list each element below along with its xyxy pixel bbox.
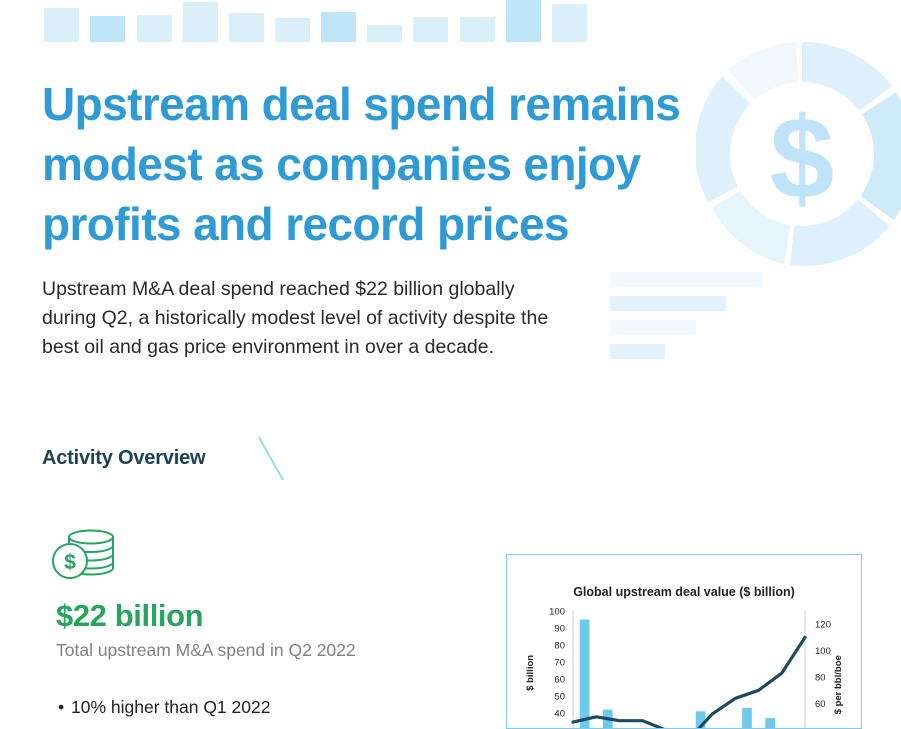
list-item-label: 10% higher than Q1 2022	[71, 697, 270, 717]
decorative-bar	[183, 2, 218, 42]
y-axis-tick: 40	[554, 709, 565, 720]
page-headline: Upstream deal spend remains modest as co…	[42, 74, 692, 254]
chart-panel: Global upstream deal value ($ billion) 1…	[506, 554, 862, 729]
placeholder-line	[610, 320, 696, 335]
decorative-bar	[413, 17, 448, 42]
list-item: •10% higher than Q1 2022	[58, 694, 270, 720]
decorative-bar	[90, 16, 125, 42]
decorative-bar	[275, 18, 310, 42]
band-diagonal-rule	[259, 437, 283, 480]
donut-chart-watermark: $	[696, 36, 901, 268]
y-axis-tick: 50	[554, 692, 565, 703]
chart-bar	[742, 708, 752, 729]
y2-axis-tick: 60	[815, 699, 826, 710]
y2-axis-title: $ per bbl/boe	[833, 655, 844, 714]
y-axis-tick: 80	[554, 641, 565, 652]
y-axis-title: $ billion	[525, 655, 536, 691]
y2-axis-tick: 120	[815, 620, 831, 631]
svg-text:$: $	[64, 551, 76, 574]
section-title: Activity Overview	[42, 447, 205, 470]
decorative-bar	[367, 25, 402, 42]
y-axis-tick: 70	[554, 658, 565, 669]
lead-paragraph: Upstream M&A deal spend reached $22 bill…	[42, 275, 562, 362]
activity-overview-band: Activity Overview	[42, 436, 442, 482]
decorative-bar	[552, 4, 587, 42]
chart-bar	[765, 718, 775, 729]
placeholder-line	[610, 296, 726, 311]
decorative-bar	[44, 8, 79, 42]
decorative-bar	[506, 0, 541, 42]
stat-value: $22 billion	[56, 598, 203, 634]
chart-bar	[580, 620, 590, 729]
coin-stack-dollar-icon: $	[50, 528, 120, 584]
y-axis-tick: 90	[554, 624, 565, 635]
placeholder-line	[610, 272, 763, 287]
y-axis-tick: 60	[554, 675, 565, 686]
decorative-bar	[229, 13, 264, 42]
decorative-bar	[321, 12, 356, 42]
donut-dollar-glyph: $	[770, 93, 835, 223]
decorative-bar	[460, 17, 495, 42]
placeholder-text-block	[610, 272, 810, 368]
decorative-bar	[137, 15, 172, 42]
donut-segments	[696, 42, 901, 266]
placeholder-line	[610, 344, 665, 359]
y-axis-tick: 100	[549, 607, 565, 618]
decorative-bar-strip	[0, 0, 901, 42]
stat-bullet-list: •10% higher than Q1 2022	[58, 694, 270, 720]
chart-title: Global upstream deal value ($ billion)	[507, 585, 861, 599]
y2-axis-tick: 80	[815, 673, 826, 684]
deal-value-chart: 1009080706050401201008060$ billion$ per …	[507, 607, 862, 729]
y2-axis-tick: 100	[815, 646, 831, 657]
stat-caption: Total upstream M&A spend in Q2 2022	[56, 640, 356, 661]
bullet-marker: •	[58, 694, 71, 720]
